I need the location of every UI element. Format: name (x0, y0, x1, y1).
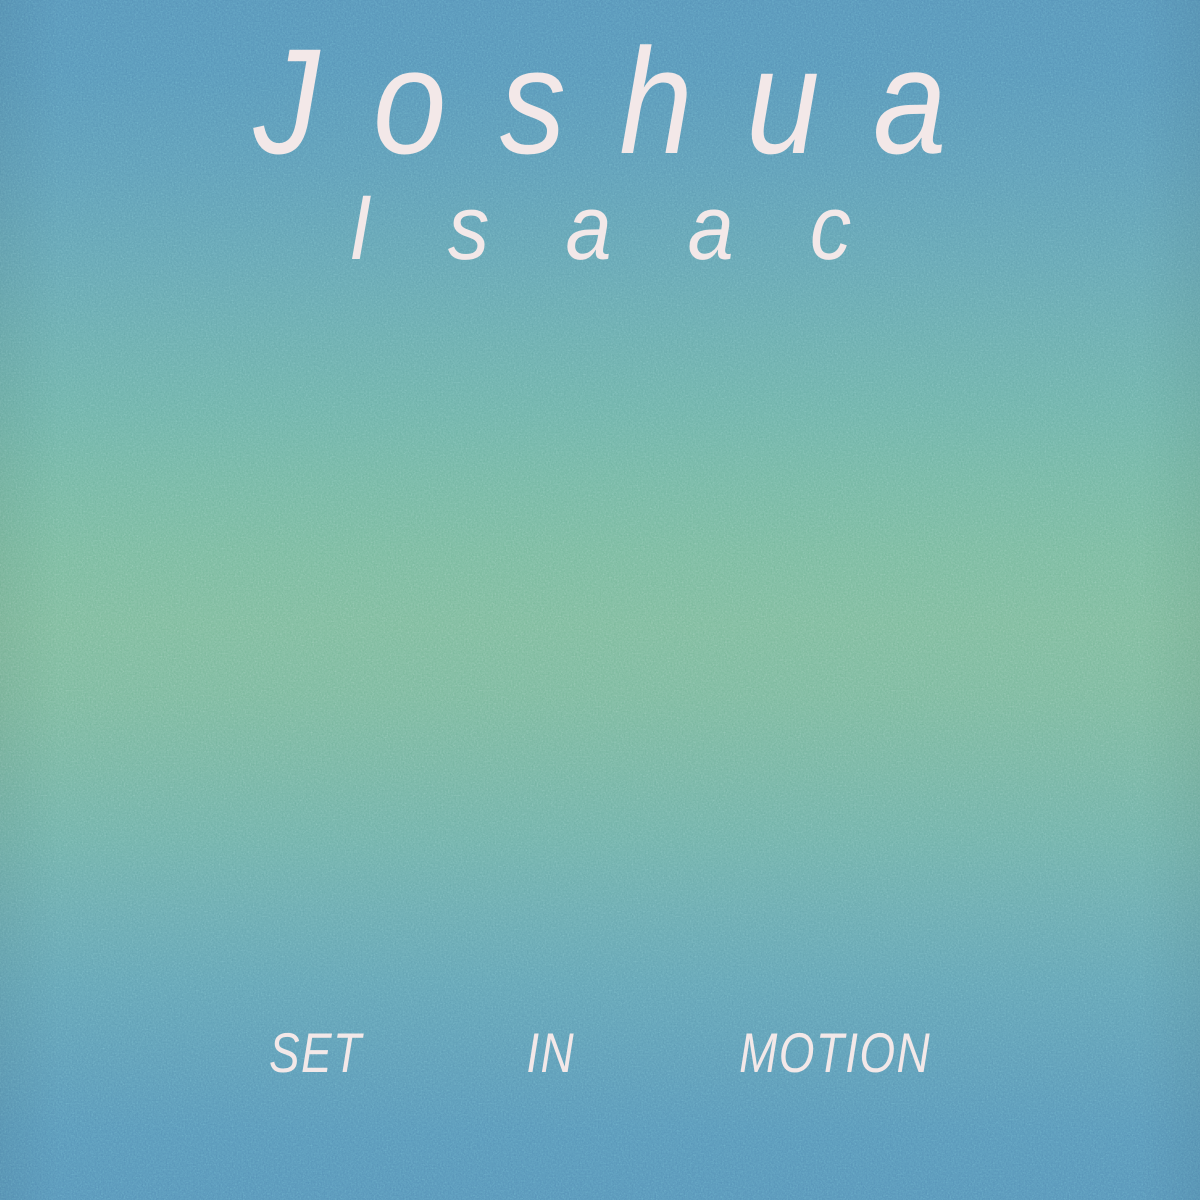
artist-last-name: Isaac (60, 182, 1140, 274)
album-title-word-set: SET (269, 1025, 362, 1081)
album-title-word-in: IN (526, 1025, 575, 1081)
album-title-word-motion: MOTION (739, 1025, 931, 1081)
artist-first-name: Joshua (72, 26, 1128, 176)
album-cover: Joshua Isaac SET IN MOTION (0, 0, 1200, 1200)
album-title: SET IN MOTION (108, 1018, 1092, 1088)
